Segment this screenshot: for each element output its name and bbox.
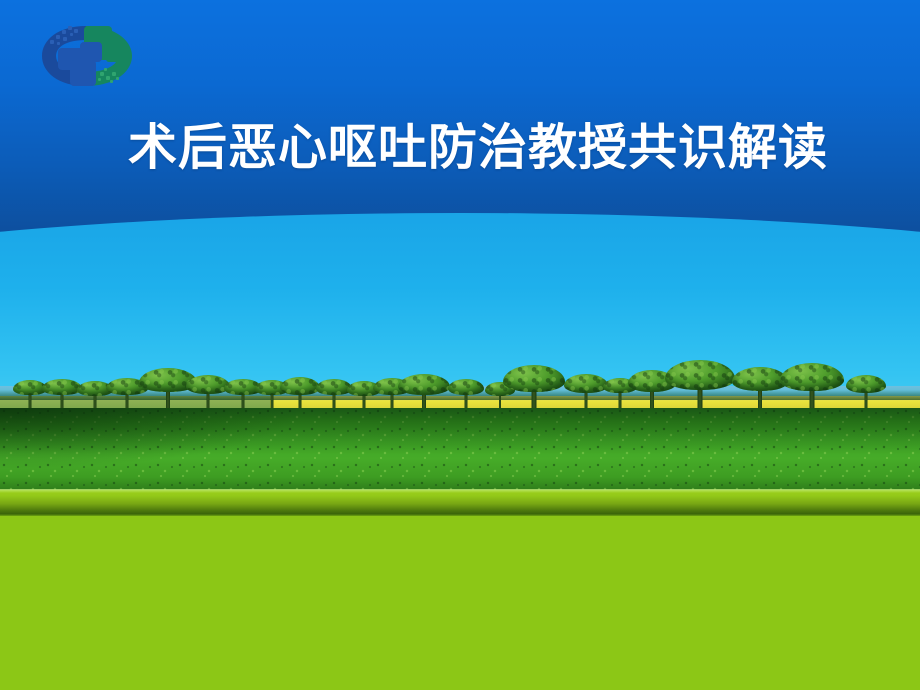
tree-canopy — [665, 360, 735, 390]
tree-canopy — [564, 374, 608, 393]
landscape-scene-lower — [0, 292, 920, 490]
tree-trunk — [61, 395, 64, 408]
landscape-photo-body — [0, 292, 920, 490]
tree — [42, 379, 82, 408]
tree-canopy — [280, 377, 320, 395]
tree-trunk — [126, 395, 129, 408]
green-band-ridge — [0, 490, 920, 516]
tree-canopy — [398, 374, 450, 395]
scene-layers — [0, 292, 920, 490]
tree-canopy — [503, 365, 565, 392]
tree-canopy — [448, 379, 484, 395]
tree-trunk — [94, 396, 97, 408]
company-logo[interactable] — [28, 20, 146, 92]
tree-canopy — [846, 375, 886, 393]
tree-canopy — [780, 363, 844, 391]
tree-canopy — [42, 379, 82, 395]
tree-trunk — [29, 395, 32, 408]
bottom-green-band — [0, 490, 920, 690]
field-corner-shadow — [0, 408, 300, 468]
tree-trunk — [207, 394, 210, 409]
presentation-slide: 术后恶心呕吐防治教授共识解读 — [0, 0, 920, 690]
tree — [280, 377, 320, 411]
slide-title: 术后恶心呕吐防治教授共识解读 — [128, 118, 868, 176]
logo-icon — [28, 20, 146, 92]
tree-trunk — [166, 392, 170, 408]
green-band-highlight — [0, 489, 920, 493]
tree — [503, 365, 565, 414]
